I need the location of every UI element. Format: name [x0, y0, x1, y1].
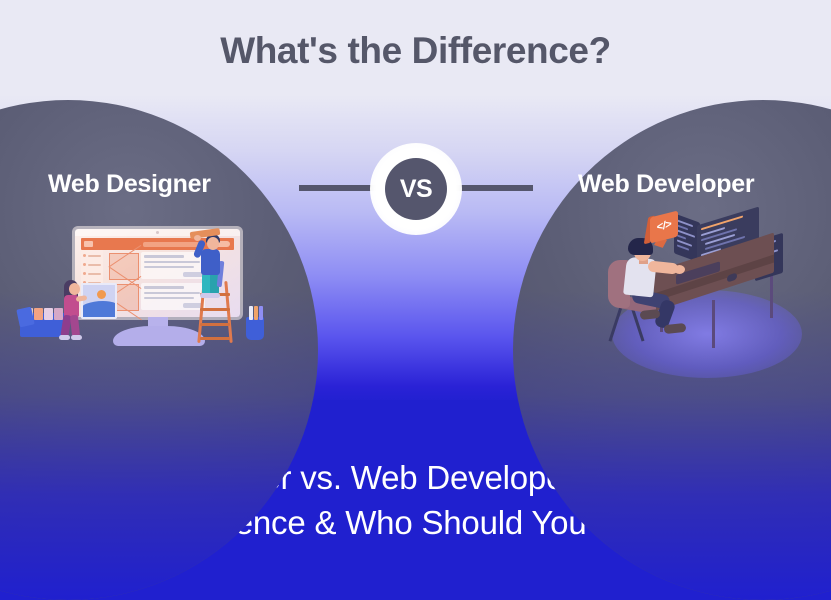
pen-holder — [246, 317, 264, 340]
designer-man-shoe — [200, 293, 220, 298]
wireframe-image-placeholder — [109, 253, 139, 280]
vs-badge: VS — [385, 158, 447, 220]
web-developer-label: Web Developer — [578, 170, 754, 199]
designer-woman-shoe — [71, 335, 82, 340]
designer-woman-head — [69, 283, 80, 295]
wireframe-search-bar — [143, 242, 201, 247]
mountain-shape — [81, 301, 117, 317]
developer-hand — [674, 265, 685, 274]
monitor-camera-dot — [156, 231, 159, 234]
wireframe-mini-button — [183, 272, 203, 277]
page-title: What's the Difference? — [0, 30, 831, 72]
web-designer-label: Web Designer — [48, 170, 211, 199]
connector-line-left — [299, 185, 377, 191]
wireframe-logo — [84, 241, 93, 247]
designer-woman-shoe — [59, 335, 70, 340]
infographic-canvas: Web Designer vs. Web Developer: What's t… — [0, 0, 831, 600]
monitor-base — [113, 326, 205, 346]
web-designer-illustration — [18, 225, 288, 375]
web-developer-illustration: </> — [592, 212, 822, 387]
sun-icon — [97, 290, 106, 299]
designer-man-head — [207, 237, 219, 250]
image-placeholder-card — [81, 283, 117, 319]
designer-woman-leg — [70, 315, 80, 338]
designer-man-body — [201, 249, 220, 275]
connector-line-right — [455, 185, 533, 191]
designer-man-hand — [194, 235, 201, 241]
